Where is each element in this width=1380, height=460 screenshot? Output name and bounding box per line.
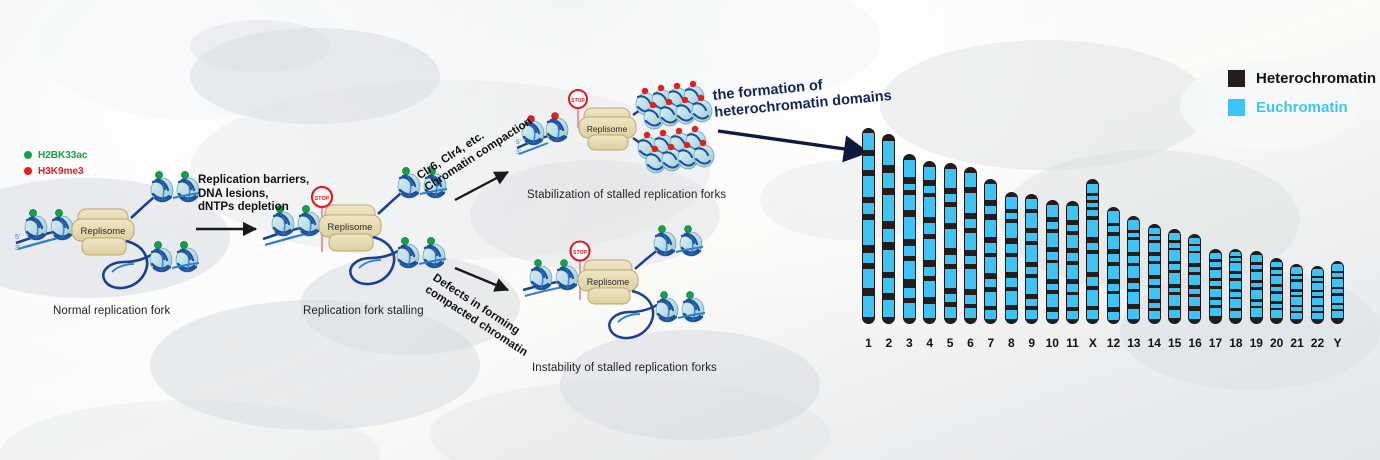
euchromatin-band <box>1230 311 1241 318</box>
chromosome-body <box>1148 224 1161 324</box>
euchromatin-band <box>1047 263 1058 279</box>
chromosome-body <box>1127 216 1140 324</box>
euchromatin-band <box>985 310 996 319</box>
euchromatin-band <box>965 219 976 228</box>
caption-normal-fork: Normal replication fork <box>53 305 170 317</box>
euchromatin-band <box>1047 233 1058 248</box>
euchromatin-band <box>1189 238 1200 244</box>
euchromatin-band <box>1251 272 1262 281</box>
euchromatin-band <box>863 156 874 170</box>
chromosome-5 <box>944 163 957 324</box>
euchromatin-band <box>1332 279 1343 287</box>
euchromatin-band <box>1087 184 1098 193</box>
chromosome-body <box>1250 251 1263 324</box>
bg-blob <box>470 160 720 270</box>
euchromatin-band <box>1230 299 1241 308</box>
chromosome-body <box>923 161 936 324</box>
legend-label: H2BK33ac <box>38 150 87 161</box>
chromosome-label-15: 15 <box>1168 336 1181 350</box>
euchromatin-band <box>1108 284 1119 291</box>
euchromatin-band <box>1210 289 1221 298</box>
euchromatin-band <box>985 184 996 200</box>
euchromatin-band <box>1006 223 1017 239</box>
chromosome-6 <box>964 167 977 324</box>
euchromatin-band <box>965 308 976 319</box>
euchromatin-band <box>985 206 996 215</box>
euchromatin-band <box>863 269 874 288</box>
euchromatin-band <box>1210 253 1221 260</box>
chromosome-8 <box>1005 192 1018 324</box>
euchromatin-band <box>1312 292 1323 296</box>
euchromatin-band <box>1128 283 1139 289</box>
chromosome-15 <box>1168 229 1181 324</box>
chromosome-3 <box>903 154 916 324</box>
chromosome-label-1: 1 <box>862 336 875 350</box>
euchromatin-band <box>1291 313 1302 319</box>
euchromatin-band <box>1312 298 1323 305</box>
chromosome-body <box>1229 249 1242 324</box>
euchromatin-band <box>965 193 976 213</box>
euchromatin-band <box>1128 266 1139 279</box>
euchromatin-band <box>1087 243 1098 250</box>
euchromatin-band <box>1291 292 1302 295</box>
euchromatin-band <box>1291 297 1302 305</box>
euchromatin-band <box>1149 311 1160 319</box>
euchromatin-band <box>1047 294 1058 307</box>
euchromatin-band <box>1189 267 1200 272</box>
euchromatin-band <box>1271 287 1282 291</box>
euchromatin-band <box>1026 299 1037 307</box>
euchromatin-band <box>863 133 874 150</box>
chromosome-body <box>1331 261 1344 324</box>
chromosome-body <box>944 163 957 324</box>
euchromatin-band <box>1108 211 1119 223</box>
euchromatin-band <box>863 220 874 245</box>
chromosome-body <box>882 134 895 324</box>
euchromatin-band <box>1271 262 1282 268</box>
chromosome-17 <box>1209 249 1222 324</box>
chromosome-label-Y: Y <box>1331 336 1344 350</box>
euchromatin-band <box>1108 312 1119 320</box>
euchromatin-band <box>1210 300 1221 304</box>
euchromatin-band <box>1067 235 1078 248</box>
chromosome-body <box>1025 194 1038 324</box>
euchromatin-band <box>924 267 935 277</box>
euchromatin-band <box>904 217 915 239</box>
euchromatin-band <box>1128 292 1139 304</box>
euchromatin-band <box>1291 267 1302 273</box>
chromosome-12 <box>1107 207 1120 324</box>
euchromatin-band <box>1312 313 1323 319</box>
euchromatin-band <box>1189 289 1200 294</box>
euchromatin-band <box>1230 281 1241 290</box>
chromosome-19 <box>1250 251 1263 324</box>
chromosome-label-10: 10 <box>1046 336 1059 350</box>
euchromatin-band <box>1230 274 1241 278</box>
euchromatin-band <box>1149 256 1160 261</box>
euchromatin-band <box>1189 275 1200 286</box>
euchromatin-band <box>1271 310 1282 318</box>
caption-instability: Instability of stalled replication forks <box>532 362 717 374</box>
chromosome-body <box>1107 207 1120 324</box>
euchromatin-band <box>965 173 976 187</box>
bg-blob <box>190 20 330 72</box>
chromosome-body <box>964 167 977 324</box>
euchromatin-band <box>1210 281 1221 286</box>
euchromatin-band <box>1026 278 1037 293</box>
euchromatin-band <box>1087 254 1098 271</box>
chromosome-label-2: 2 <box>882 336 895 350</box>
euchromatin-band <box>985 292 996 306</box>
chromosome-body <box>1311 266 1324 324</box>
chromosome-21 <box>1290 264 1303 324</box>
legend-item-h3k9me3: H3K9me3 <box>24 164 87 178</box>
euchromatin-band <box>1067 253 1078 261</box>
euchromatin-band <box>924 281 935 297</box>
euchromatin-band <box>924 304 935 318</box>
euchromatin-band <box>1047 284 1058 290</box>
euchromatin-band <box>1006 291 1017 305</box>
chromosome-label-13: 13 <box>1127 336 1140 350</box>
euchromatin-band <box>1291 307 1302 310</box>
euchromatin-band <box>1312 278 1323 281</box>
euchromatin-band <box>1169 233 1180 240</box>
euchromatin-band <box>945 169 956 188</box>
euchromatin-band <box>965 295 976 304</box>
chromosome-label-X: X <box>1086 336 1099 350</box>
euchromatin-band <box>1169 264 1180 270</box>
chromosome-16 <box>1188 234 1201 324</box>
euchromatin-band <box>1087 220 1098 237</box>
chromosome-label-7: 7 <box>984 336 997 350</box>
euchromatin-band <box>1189 311 1200 319</box>
euchromatin-band <box>1169 295 1180 306</box>
euchromatin-band <box>1026 267 1037 275</box>
chromosome-1 <box>862 128 875 324</box>
euchromatin-band <box>1312 283 1323 290</box>
chromosome-label-20: 20 <box>1270 336 1283 350</box>
euchromatin-band <box>904 184 915 191</box>
chromosome-body <box>903 154 916 324</box>
euchromatin-band <box>1251 302 1262 306</box>
chromosome-label-9: 9 <box>1025 336 1038 350</box>
legend-label: Euchromatin <box>1256 99 1348 116</box>
euchromatin-band <box>883 195 894 221</box>
euchromatin-band <box>1006 213 1017 220</box>
chromosome-label-5: 5 <box>944 336 957 350</box>
euchromatin-band <box>1026 245 1037 262</box>
euchromatin-band <box>1108 294 1119 307</box>
euchromatin-band <box>1332 273 1343 277</box>
chromosome-body <box>1290 264 1303 324</box>
euchromatin-band <box>1087 210 1098 216</box>
euchromatin-band <box>1128 309 1139 319</box>
chromosome-body <box>862 128 875 324</box>
euchromatin-band <box>985 257 996 273</box>
euchromatin-band <box>945 307 956 318</box>
euchromatin-band <box>1087 196 1098 200</box>
chromosome-label-12: 12 <box>1107 336 1120 350</box>
chromosome-body <box>1086 179 1099 324</box>
euchromatin-band <box>883 300 894 317</box>
euchromatin-band <box>1251 308 1262 317</box>
euchromatin-band <box>1026 233 1037 241</box>
euchromatin-band <box>1026 199 1037 209</box>
chromosome-9 <box>1025 194 1038 324</box>
euchromatin-band <box>904 195 915 210</box>
chromosome-body <box>1005 192 1018 324</box>
euchromatin-band <box>1251 290 1262 299</box>
euchromatin-band <box>904 303 915 318</box>
euchromatin-band <box>883 141 894 165</box>
euchromatin-band <box>1169 273 1180 284</box>
chromosome-label-8: 8 <box>1005 336 1018 350</box>
euchromatin-band <box>1149 288 1160 300</box>
chromosome-22 <box>1311 266 1324 324</box>
euchromatin-band <box>1087 277 1098 286</box>
chromosome-label-11: 11 <box>1066 336 1079 350</box>
karyotype-panel: 1234567891011X1213141516171819202122Y <box>862 128 1362 356</box>
chromosome-label-22: 22 <box>1311 336 1324 350</box>
euchromatin-band <box>1108 226 1119 232</box>
euchromatin-band <box>1271 276 1282 284</box>
euchromatin-band <box>1230 258 1241 261</box>
chromosome-label-3: 3 <box>903 336 916 350</box>
euchromatin-band <box>924 186 935 192</box>
chromosome-13 <box>1127 216 1140 324</box>
euchromatin-band <box>1169 288 1180 293</box>
euchromatin-band <box>985 243 996 253</box>
euchromatin-band <box>1189 246 1200 250</box>
euchromatin-band <box>1149 279 1160 285</box>
euchromatin-band <box>1149 228 1160 234</box>
red-dot-icon <box>24 167 32 175</box>
euchromatin-band <box>1149 243 1160 253</box>
chromosome-label-4: 4 <box>923 336 936 350</box>
euchromatin-band <box>1047 205 1058 217</box>
euchromatin-band <box>1128 220 1139 230</box>
chromosome-18 <box>1229 249 1242 324</box>
chromosome-20 <box>1270 258 1283 324</box>
chromosome-body <box>1066 201 1079 324</box>
euchromatin-band <box>1251 265 1262 269</box>
euchromatin-band <box>1332 264 1343 270</box>
euchromatin-band <box>1006 197 1017 209</box>
euchromatin-band <box>1128 233 1139 237</box>
euchromatin-band <box>1149 264 1160 275</box>
heterochromatin-swatch-icon <box>1228 70 1245 87</box>
euchromatin-band <box>1271 270 1282 274</box>
chromosome-body <box>1188 234 1201 324</box>
euchromatin-band <box>1128 256 1139 262</box>
chromosome-Y <box>1331 261 1344 324</box>
chromosome-14 <box>1148 224 1161 324</box>
euchromatin-band <box>924 197 935 216</box>
euchromatin-band <box>1230 263 1241 271</box>
legend-item-heterochromatin: Heterochromatin <box>1228 70 1376 87</box>
karyotype-legend: Heterochromatin Euchromatin <box>1228 70 1376 128</box>
euchromatin-band <box>1312 269 1323 276</box>
chromosome-4 <box>923 161 936 324</box>
euchromatin-band <box>945 229 956 248</box>
euchromatin-band <box>1006 310 1017 319</box>
euchromatin-swatch-icon <box>1228 99 1245 116</box>
euchromatin-band <box>1026 213 1037 228</box>
euchromatin-band <box>1210 262 1221 266</box>
transition-label-barriers: Replication barriers, DNA lesions, dNTPs… <box>198 174 309 215</box>
chromosome-11 <box>1066 201 1079 324</box>
euchromatin-band <box>1006 278 1017 287</box>
chromosome-label-18: 18 <box>1229 336 1242 350</box>
euchromatin-band <box>904 261 915 279</box>
euchromatin-band <box>904 160 915 177</box>
euchromatin-band <box>883 250 894 273</box>
euchromatin-band <box>1006 244 1017 253</box>
euchromatin-band <box>1332 311 1343 318</box>
euchromatin-band <box>1230 252 1241 256</box>
euchromatin-band <box>1149 236 1160 240</box>
euchromatin-band <box>924 167 935 180</box>
euchromatin-band <box>904 246 915 256</box>
euchromatin-band <box>1271 304 1282 308</box>
euchromatin-band <box>945 294 956 302</box>
chromosome-label-19: 19 <box>1250 336 1263 350</box>
green-dot-icon <box>24 151 32 159</box>
euchromatin-band <box>1067 284 1078 291</box>
euchromatin-band <box>1108 254 1119 262</box>
euchromatin-band <box>1291 282 1302 290</box>
euchromatin-band <box>863 253 874 263</box>
chromosome-body <box>1270 258 1283 324</box>
euchromatin-band <box>1067 295 1078 307</box>
chromosome-X <box>1086 179 1099 324</box>
euchromatin-band <box>1087 203 1098 207</box>
legend-item-euchromatin: Euchromatin <box>1228 99 1376 116</box>
euchromatin-band <box>1189 253 1200 263</box>
euchromatin-band <box>863 176 874 197</box>
euchromatin-band <box>965 233 976 250</box>
legend-label: Heterochromatin <box>1256 70 1376 87</box>
chromosome-7 <box>984 179 997 324</box>
euchromatin-band <box>863 296 874 317</box>
chromosome-label-17: 17 <box>1209 336 1222 350</box>
euchromatin-band <box>985 220 996 237</box>
euchromatin-band <box>1108 266 1119 280</box>
euchromatin-band <box>1169 310 1180 318</box>
euchromatin-band <box>1067 265 1078 280</box>
euchromatin-band <box>1047 252 1058 259</box>
chromosome-label-16: 16 <box>1188 336 1201 350</box>
euchromatin-band <box>904 288 915 298</box>
euchromatin-band <box>1067 311 1078 319</box>
euchromatin-band <box>1332 296 1343 303</box>
euchromatin-band <box>1047 222 1058 229</box>
euchromatin-band <box>965 269 976 289</box>
euchromatin-band <box>1210 308 1221 317</box>
euchromatin-band <box>965 256 976 264</box>
euchromatin-band <box>1230 292 1241 296</box>
chromosome-2 <box>882 134 895 324</box>
euchromatin-band <box>883 229 894 242</box>
euchromatin-band <box>945 269 956 288</box>
euchromatin-band <box>1312 307 1323 310</box>
euchromatin-band <box>1087 290 1098 306</box>
chromosome-10 <box>1046 200 1059 324</box>
euchromatin-band <box>883 278 894 293</box>
euchromatin-band <box>945 194 956 202</box>
euchromatin-band <box>924 239 935 260</box>
histone-mark-legend: H2BK33ac H3K9me3 <box>24 148 87 180</box>
chromosome-body <box>1209 249 1222 324</box>
chromosome-label-14: 14 <box>1148 336 1161 350</box>
euchromatin-band <box>1006 257 1017 273</box>
chromosome-label-21: 21 <box>1290 336 1303 350</box>
euchromatin-band <box>1291 276 1302 279</box>
euchromatin-band <box>985 279 996 288</box>
euchromatin-band <box>1189 297 1200 307</box>
euchromatin-band <box>1128 240 1139 252</box>
figure-canvas: H2BK33ac H3K9me3 <box>0 0 1380 460</box>
euchromatin-band <box>883 173 894 188</box>
caption-stabilization: Stabilization of stalled replication for… <box>527 189 726 201</box>
legend-label: H3K9me3 <box>38 166 84 177</box>
chromosome-body <box>1168 229 1181 324</box>
euchromatin-band <box>1251 255 1262 262</box>
euchromatin-band <box>1108 236 1119 250</box>
euchromatin-band <box>1169 243 1180 248</box>
euchromatin-band <box>1210 270 1221 279</box>
euchromatin-band <box>1026 310 1037 319</box>
euchromatin-band <box>1332 289 1343 293</box>
euchromatin-band <box>1332 305 1343 309</box>
euchromatin-band <box>1087 310 1098 319</box>
chromosome-body <box>1046 200 1059 324</box>
chromosome-label-6: 6 <box>964 336 977 350</box>
euchromatin-band <box>1251 283 1262 287</box>
legend-item-h2bk33ac: H2BK33ac <box>24 148 87 162</box>
euchromatin-band <box>863 203 874 215</box>
caption-fork-stalling: Replication fork stalling <box>303 305 424 317</box>
euchromatin-band <box>945 255 956 265</box>
euchromatin-band <box>1149 303 1160 308</box>
euchromatin-band <box>1271 294 1282 302</box>
euchromatin-band <box>945 207 956 223</box>
euchromatin-band <box>1169 250 1180 260</box>
euchromatin-band <box>1067 206 1078 221</box>
euchromatin-band <box>924 223 935 234</box>
euchromatin-band <box>1047 312 1058 319</box>
chromosome-body <box>984 179 997 324</box>
euchromatin-band <box>1067 225 1078 231</box>
